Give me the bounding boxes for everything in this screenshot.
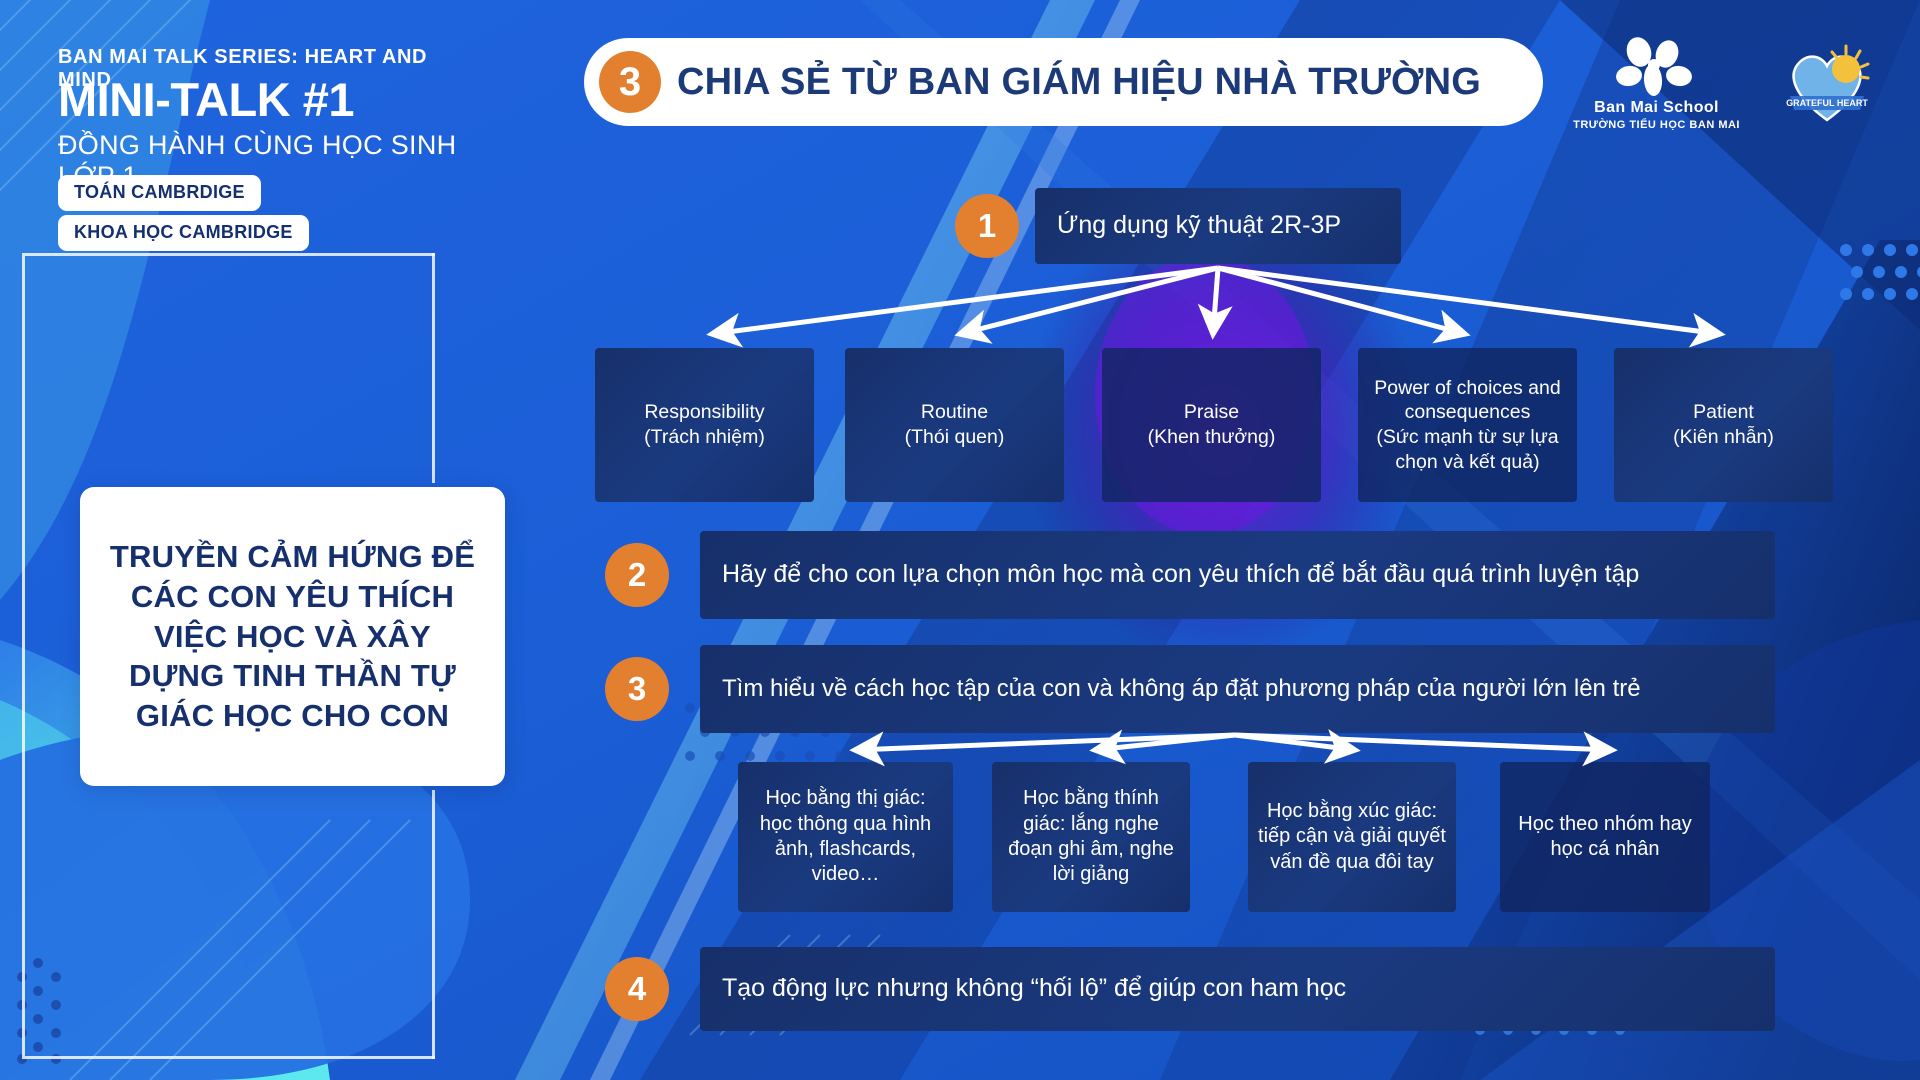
inspiration-quote-text: TRUYỀN CẢM HỨNG ĐỂ CÁC CON YÊU THÍCH VIỆ… [80,537,505,735]
node-kinesthetic-learning[interactable]: Học bằng xúc giác: tiếp cận và giải quyế… [1248,762,1456,912]
flower-icon [1609,36,1705,98]
inspiration-quote-card: TRUYỀN CẢM HỨNG ĐỂ CÁC CON YÊU THÍCH VIỆ… [80,487,505,786]
decorative-frame-edge-bottom [432,790,435,1059]
section-header-bar: 3 CHIA SẺ TỪ BAN GIÁM HIỆU NHÀ TRƯỜNG [584,38,1543,126]
node-routine-vi: (Thói quen) [905,425,1005,450]
node-routine-en: Routine [905,400,1005,425]
ban-mai-school-logo: Ban Mai School TRƯỜNG TIỂU HỌC BAN MAI [1573,36,1740,131]
badge-3: 3 [605,657,669,721]
node-visual-learning[interactable]: Học bằng thị giác: học thông qua hình ản… [738,762,953,912]
node-praise-vi: (Khen thưởng) [1148,425,1276,450]
node-motivate-not-bribe[interactable]: Tạo động lực nhưng không “hối lộ” để giú… [700,947,1775,1031]
node-power-of-choices-en: Power of choices and consequences [1366,376,1569,426]
ban-mai-school-sub: TRƯỜNG TIỂU HỌC BAN MAI [1573,119,1740,131]
node-power-of-choices[interactable]: Power of choices and consequences (Sức m… [1358,348,1577,502]
node-let-child-choose[interactable]: Hãy để cho con lựa chọn môn học mà con y… [700,531,1775,619]
tag-khoa-hoc-cambridge[interactable]: KHOA HỌC CAMBRIDGE [58,215,309,251]
node-2r3p[interactable]: Ứng dụng kỹ thuật 2R-3P [1035,188,1401,264]
node-responsibility-en: Responsibility [644,400,765,425]
tag-toan-cambridge[interactable]: TOÁN CAMBRDIGE [58,175,261,211]
badge-1: 1 [955,194,1019,258]
node-responsibility-vi: (Trách nhiệm) [644,425,765,450]
node-patient-en: Patient [1673,400,1774,425]
node-routine[interactable]: Routine (Thói quen) [845,348,1064,502]
ban-mai-school-name: Ban Mai School [1594,99,1719,117]
section-number-badge: 3 [599,51,661,113]
node-praise-en: Praise [1148,400,1276,425]
node-power-of-choices-vi: (Sức mạnh từ sự lựa chọn và kết quả) [1366,425,1569,475]
mini-talk-title: MINI-TALK #1 [58,75,354,124]
grateful-heart-bright-mind-logo: GRATEFUL HEART [1784,42,1870,126]
node-understand-learning-style[interactable]: Tìm hiểu về cách học tập của con và khôn… [700,645,1775,733]
badge-2: 2 [605,543,669,607]
node-praise[interactable]: Praise (Khen thưởng) [1102,348,1321,502]
node-responsibility[interactable]: Responsibility (Trách nhiệm) [595,348,814,502]
decorative-frame-edge-top [432,253,435,483]
node-patient-vi: (Kiên nhẫn) [1673,425,1774,450]
node-patient[interactable]: Patient (Kiên nhẫn) [1614,348,1833,502]
heart-sun-ribbon-text: GRATEFUL HEART [1786,98,1868,108]
heart-sun-icon: GRATEFUL HEART [1784,42,1870,126]
node-group-or-solo-learning[interactable]: Học theo nhóm hay học cá nhân [1500,762,1710,912]
badge-4: 4 [605,957,669,1021]
node-auditory-learning[interactable]: Học bằng thính giác: lắng nghe đoạn ghi … [992,762,1190,912]
logo-group: Ban Mai School TRƯỜNG TIỂU HỌC BAN MAI G… [1573,36,1870,131]
page-title: CHIA SẺ TỪ BAN GIÁM HIỆU NHÀ TRƯỜNG [677,61,1481,104]
